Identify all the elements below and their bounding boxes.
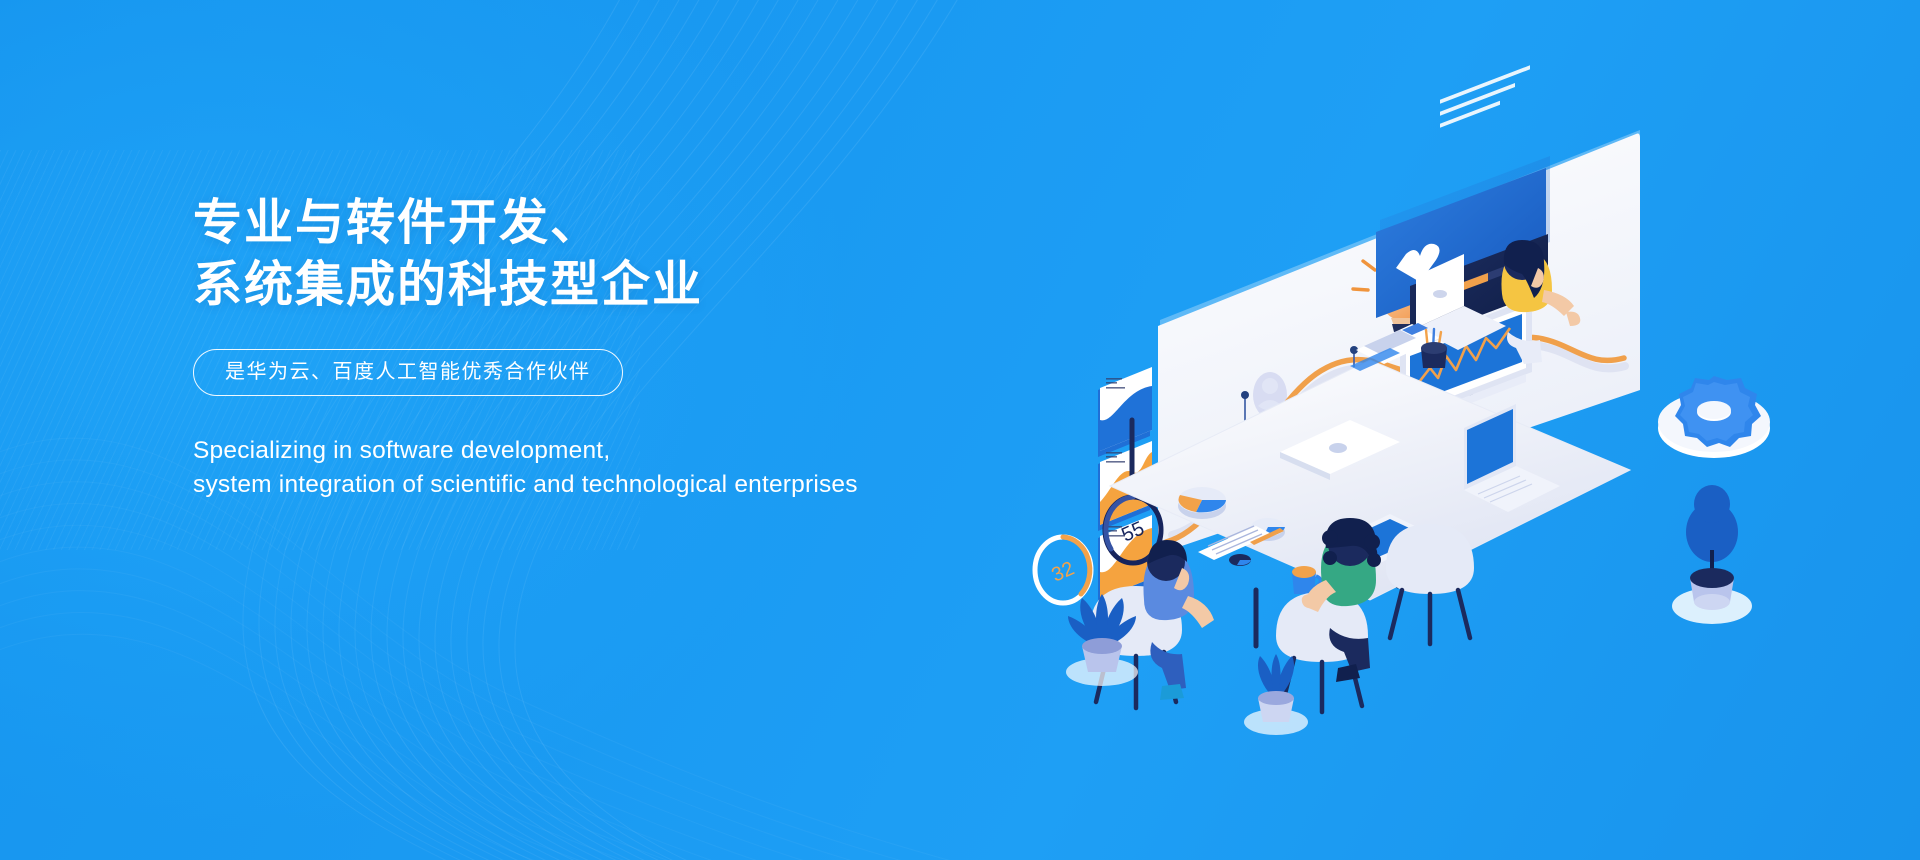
topiary-icon [1672, 485, 1752, 624]
headline-line-2: 系统集成的科技型企业 [193, 254, 953, 316]
pie-chart-icon-tiny [1229, 554, 1251, 566]
plant-icon-bottom [1244, 654, 1308, 735]
page-title: 专业与转件开发、 系统集成的科技型企业 [193, 192, 953, 316]
illustration-canvas: 65 123 97 81 [1080, 90, 1900, 730]
chair-right [1386, 524, 1474, 644]
mini-card-1 [1098, 367, 1152, 457]
gear-pedestal [1658, 376, 1770, 458]
hero-banner: 专业与转件开发、 系统集成的科技型企业 是华为云、百度人工智能优秀合作伙伴 Sp… [0, 0, 1920, 860]
partner-badge[interactable]: 是华为云、百度人工智能优秀合作伙伴 [193, 349, 623, 396]
subcopy-line-1: Specializing in software development, [193, 434, 953, 468]
pie-chart-icon [1178, 487, 1226, 519]
subcopy-line-2: system integration of scientific and tec… [193, 468, 953, 502]
headline-line-1: 专业与转件开发、 [193, 192, 953, 254]
hero-copy-block: 专业与转件开发、 系统集成的科技型企业 是华为云、百度人工智能优秀合作伙伴 Sp… [193, 192, 953, 502]
gear-icon [1675, 376, 1761, 447]
isometric-illustration: 65 123 97 81 [1080, 90, 1900, 730]
hero-subcopy: Specializing in software development, sy… [193, 434, 953, 502]
